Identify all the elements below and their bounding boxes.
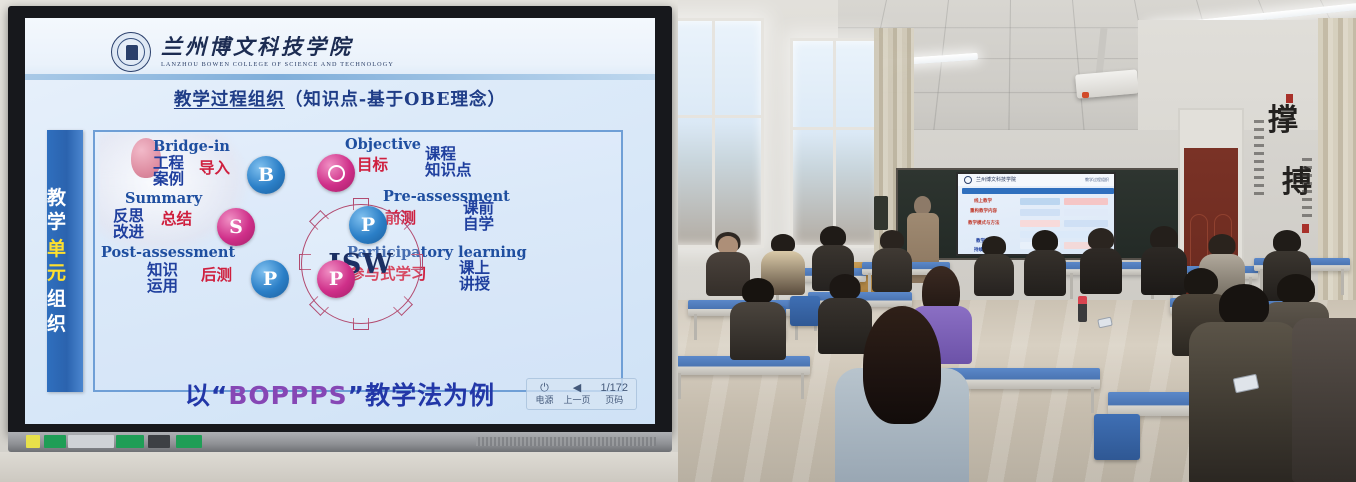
label-summary-cn-red: 总结 — [161, 207, 192, 229]
volume-icon: ◀ — [563, 382, 590, 395]
prev-page-button[interactable]: ◀ 上一页 — [563, 382, 590, 406]
left-panel-whiteboard-photo: 兰州博文科技学院 LANZHOU BOWEN COLLEGE OF SCIENC… — [0, 0, 678, 482]
vertical-section-bar: 教学 单元 组织 — [47, 130, 83, 392]
display-header-right-text: 教学过程组织 — [1085, 177, 1109, 183]
caption-prefix: 以“ — [185, 381, 228, 410]
student-foreground — [840, 306, 964, 482]
power-button[interactable]: ⏻ 电源 — [535, 382, 553, 406]
caption-acronym: BOPPPS — [228, 381, 347, 410]
right-panel-classroom-photo: 兰州博文科技学院 教学过程组织 线上教学 重构教学内容 教学模式与方法 教学效果… — [678, 0, 1356, 482]
student-foreground-far-right — [1300, 318, 1356, 482]
institution-name-block: 兰州博文科技学院 LANZHOU BOWEN COLLEGE OF SCIENC… — [161, 36, 394, 68]
node-post-assessment-P[interactable]: P — [251, 260, 289, 298]
two-panel-photo-composite: 兰州博文科技学院 LANZHOU BOWEN COLLEGE OF SCIENC… — [0, 0, 1356, 482]
slide-title-underlined: 教学过程组织 — [174, 90, 285, 110]
vbar-line-1: 教学 — [47, 186, 83, 235]
student — [1026, 230, 1064, 288]
window-left — [678, 18, 764, 248]
bezel-label-plate — [68, 435, 114, 448]
bezel-sticker-green-3 — [176, 435, 202, 448]
bezel-sticker-yellow — [26, 435, 40, 448]
node-letter-b: B — [258, 164, 274, 186]
node-participatory-P[interactable]: P — [317, 260, 355, 298]
bezel-port-panel[interactable] — [148, 435, 170, 448]
calligraphy-red-mark — [1286, 94, 1293, 103]
projector-indicator-light — [1082, 92, 1089, 98]
vbar-line-3: 组织 — [47, 287, 83, 336]
institution-name-cn: 兰州博文科技学院 — [161, 36, 394, 58]
label-summary-en: Summary — [125, 190, 202, 207]
student — [976, 236, 1012, 290]
vbar-line-2: 单元 — [47, 237, 83, 286]
display-seal-icon — [964, 176, 972, 184]
label-post-assessment-en: Post-assessment — [101, 244, 235, 261]
wall-speaker — [874, 196, 888, 230]
label-objective-cn-blue: 课程 知识点 — [425, 146, 472, 179]
node-summary-S[interactable]: S — [217, 208, 255, 246]
objective-ring-icon — [328, 165, 345, 182]
student — [1082, 228, 1120, 286]
node-objective-O[interactable] — [317, 154, 355, 192]
label-post-assessment-cn-blue: 知识 运用 — [147, 262, 178, 295]
calligraphy-inscription-1 — [1254, 120, 1264, 200]
node-bridge-in-B[interactable]: B — [247, 156, 285, 194]
display-institution-name: 兰州博文科技学院 — [976, 176, 1016, 183]
window-right — [790, 38, 882, 248]
wall-calligraphy-art: 撑 搏 — [1252, 72, 1328, 232]
slide-title-rest: （知识点-基于OBE理念） — [285, 90, 506, 110]
node-letter-s: S — [229, 216, 243, 238]
left-lower-wall — [0, 452, 678, 482]
node-letter-p1: P — [361, 214, 375, 236]
label-post-assessment-cn-red: 后测 — [201, 263, 232, 285]
water-bottle — [1078, 296, 1087, 322]
whiteboard-bottom-bezel — [8, 432, 672, 452]
institution-logo-row: 兰州博文科技学院 LANZHOU BOWEN COLLEGE OF SCIENC… — [111, 32, 394, 72]
power-icon: ⏻ — [535, 382, 553, 395]
label-bridge-in-en: Bridge-in — [153, 138, 230, 155]
university-seal-icon — [111, 32, 151, 72]
caption-suffix: ”教学法为例 — [348, 381, 495, 410]
student — [874, 230, 910, 286]
speaker-grille-icon — [476, 437, 656, 446]
chair — [1094, 414, 1140, 460]
calligraphy-char-1: 撑 — [1268, 106, 1298, 136]
student — [734, 278, 782, 352]
power-label: 电源 — [535, 395, 553, 405]
slide-title: 教学过程组织（知识点-基于OBE理念） — [25, 86, 655, 111]
display-slide-header: 兰州博文科技学院 教学过程组织 — [958, 174, 1114, 186]
label-objective-en: Objective — [345, 136, 421, 153]
label-bridge-in-cn-blue: 工程 案例 — [153, 155, 184, 188]
calligraphy-inscription-2 — [1302, 158, 1312, 220]
bezel-sticker-green-2 — [116, 435, 144, 448]
label-pre-assessment-cn-blue: 课前 自学 — [463, 200, 494, 233]
volume-label: 上一页 — [563, 395, 590, 405]
chair — [790, 296, 820, 326]
interactive-whiteboard-frame: 兰州博文科技学院 LANZHOU BOWEN COLLEGE OF SCIENC… — [8, 6, 672, 434]
page-indicator: 1/172 页码 — [600, 382, 628, 406]
node-letter-p3: P — [329, 268, 343, 290]
node-letter-p2: P — [263, 268, 277, 290]
page-label: 页码 — [605, 395, 623, 405]
label-objective-cn-red: 目标 — [357, 153, 388, 175]
page-value: 1/172 — [600, 382, 628, 395]
whiteboard-screen[interactable]: 兰州博文科技学院 LANZHOU BOWEN COLLEGE OF SCIENC… — [25, 18, 655, 424]
slide-header-band: 兰州博文科技学院 LANZHOU BOWEN COLLEGE OF SCIENC… — [25, 18, 655, 80]
node-pre-assessment-P[interactable]: P — [349, 206, 387, 244]
institution-name-en: LANZHOU BOWEN COLLEGE OF SCIENCE AND TEC… — [161, 61, 394, 68]
slide-content-box: Bridge-in 工程 案例 导入 Objective 目标 — [93, 130, 623, 392]
whiteboard-mini-toolbar[interactable]: ⏻ 电源 ◀ 上一页 1/172 页码 — [526, 378, 637, 410]
label-participatory-cn-blue: 课上 讲授 — [459, 260, 490, 293]
label-bridge-in-cn-red: 导入 — [199, 156, 230, 178]
bezel-sticker-green-1 — [44, 435, 66, 448]
label-summary-cn-blue: 反思 改进 — [113, 208, 144, 241]
